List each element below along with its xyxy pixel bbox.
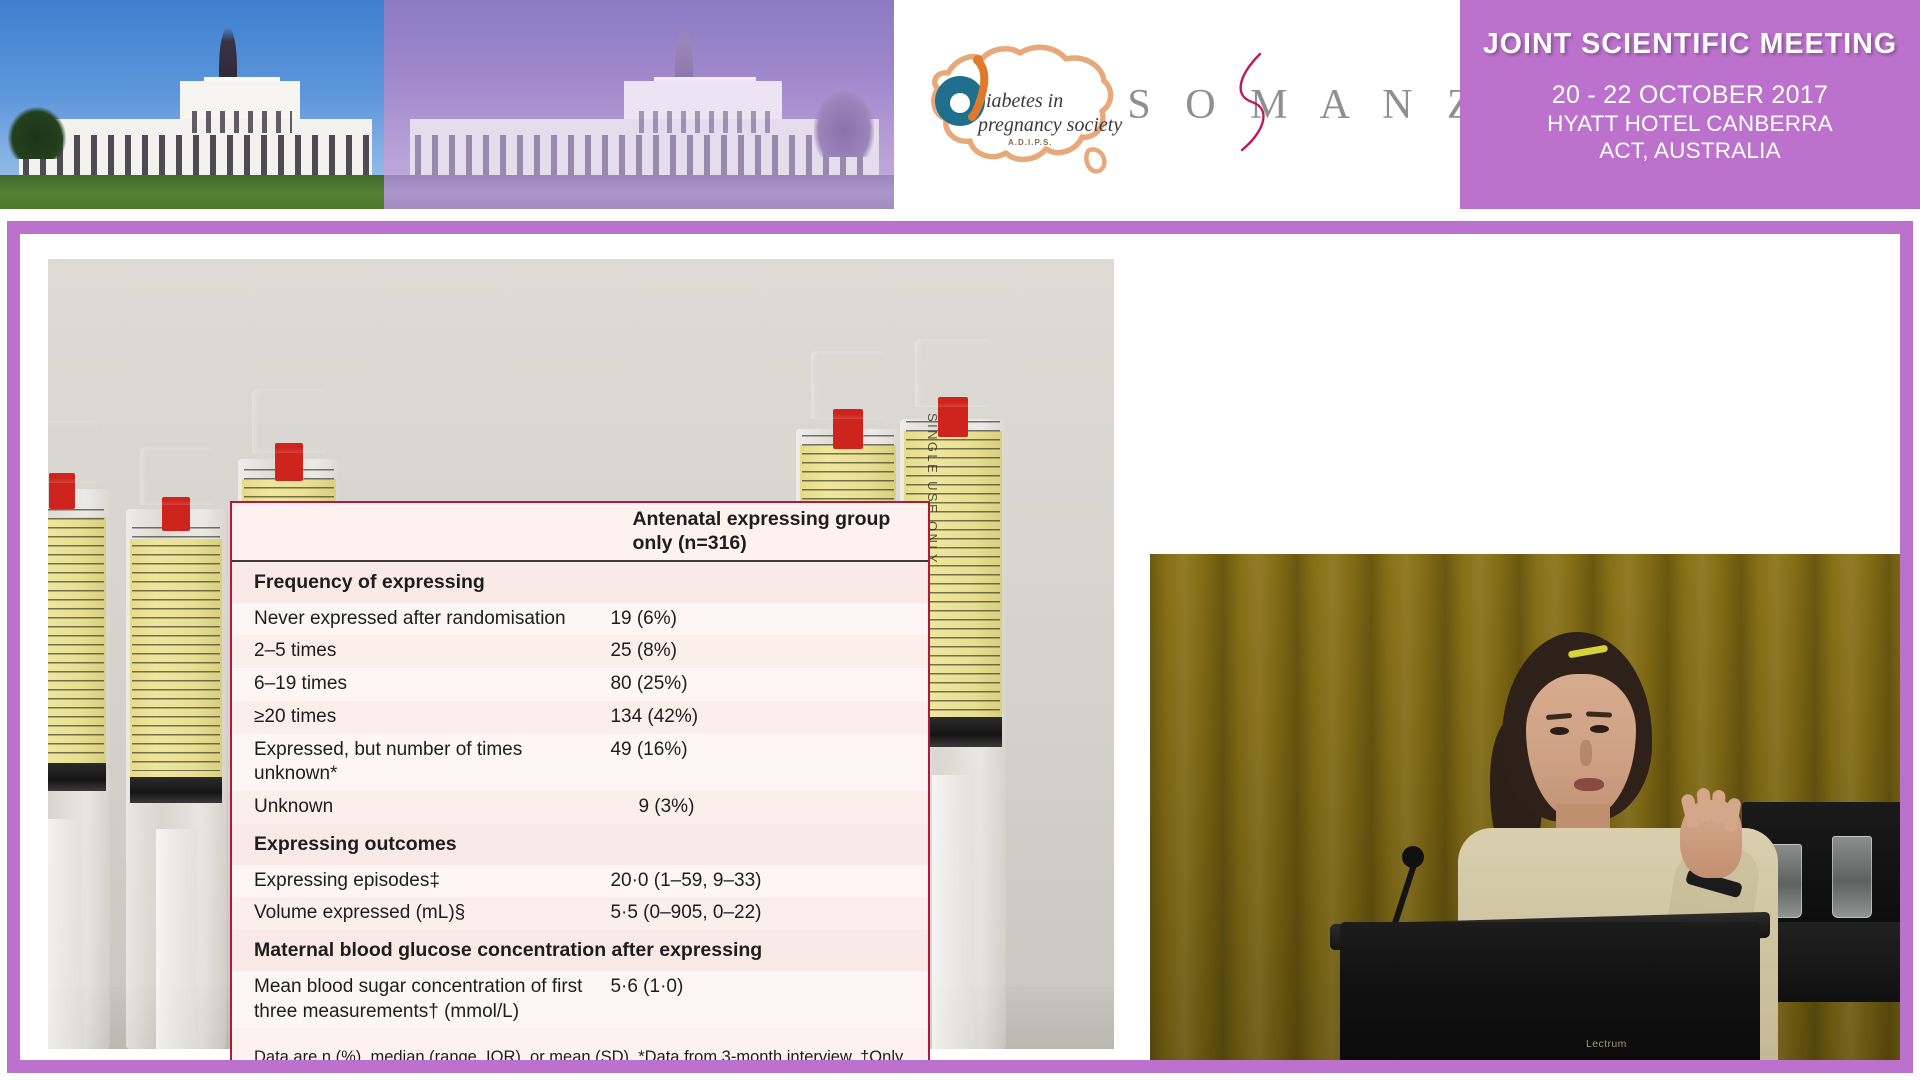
eye-left	[1550, 727, 1569, 735]
meeting-venue-line2: ACT, AUSTRALIA	[1599, 137, 1781, 164]
mouth	[1574, 778, 1604, 791]
microphone-head	[1402, 846, 1424, 868]
lawn	[0, 175, 384, 209]
speaker-presentation-video[interactable]: Lectrum	[1150, 554, 1900, 1060]
row-label: Never expressed after randomisation	[232, 603, 610, 636]
conference-header: iabetes in pregnancy society A.D.I.P.S. …	[0, 0, 1920, 212]
outcomes-table: Antenatal expressing group only (n=316) …	[232, 503, 928, 1044]
slide-purple-frame: TERUMO SINGLE USE ONLY	[7, 221, 1913, 1073]
row-label: ≥20 times	[232, 701, 610, 734]
building-windows	[23, 135, 369, 175]
table-footnote: Data are n (%), median (range, IQR), or …	[232, 1044, 928, 1060]
slide-content: TERUMO SINGLE USE ONLY	[20, 234, 1900, 1060]
tree-cluster	[8, 107, 66, 159]
somanz-logo: S O M A N Z	[1174, 60, 1439, 150]
row-label: Expressed, but number of times unknown*	[232, 734, 610, 791]
finger	[1696, 787, 1712, 822]
syringe-1	[48, 349, 110, 1049]
table-row: Expressing episodes‡ 20·0 (1–59, 9–33)	[232, 865, 928, 898]
column-header-cell: Antenatal expressing group only (n=316)	[610, 503, 928, 560]
row-value: 49 (16%)	[610, 734, 928, 791]
presentation-recording-page: iabetes in pregnancy society A.D.I.P.S. …	[0, 0, 1920, 1080]
meeting-venue-line1: HYATT HOTEL CANBERRA	[1547, 110, 1833, 137]
adips-acronym: A.D.I.P.S.	[1008, 138, 1053, 147]
adips-line1: iabetes in	[986, 90, 1063, 112]
adips-line2: pregnancy society	[976, 114, 1122, 136]
section-heading-label: Frequency of expressing	[232, 561, 928, 603]
building-windows-tinted	[415, 135, 874, 175]
lectern: Lectrum	[1340, 922, 1760, 1060]
banner-half-natural	[0, 0, 384, 209]
row-label: 2–5 times	[232, 635, 610, 668]
meeting-title: JOINT SCIENTIFIC MEETING	[1483, 28, 1897, 61]
adips-logo: iabetes in pregnancy society A.D.I.P.S.	[916, 27, 1131, 182]
row-value: 5·6 (1·0)	[610, 971, 928, 1028]
somanz-swoosh-icon	[1228, 52, 1278, 152]
table-row: Never expressed after randomisation 19 (…	[232, 603, 928, 636]
nose	[1580, 740, 1592, 766]
row-label: 6–19 times	[232, 668, 610, 701]
section-heading-label: Maternal blood glucose concentration aft…	[232, 930, 928, 971]
column-header-line2: only (n=316)	[632, 531, 928, 555]
table-section-heading: Frequency of expressing	[232, 561, 928, 603]
lawn-tinted	[384, 175, 894, 209]
tree-cluster-tinted	[814, 91, 874, 157]
sponsor-logo-strip: iabetes in pregnancy society A.D.I.P.S. …	[894, 0, 1460, 209]
table-row: 2–5 times 25 (8%)	[232, 635, 928, 668]
parliament-building-tinted	[384, 69, 894, 181]
table-row: Expressed, but number of times unknown* …	[232, 734, 928, 791]
water-glass	[1832, 836, 1872, 918]
row-label: Expressing episodes‡	[232, 865, 610, 898]
lancet-table-2: Antenatal expressing group only (n=316) …	[230, 501, 930, 1060]
row-label: Unknown	[232, 791, 610, 824]
parliament-building	[0, 69, 384, 181]
row-value: 80 (25%)	[610, 668, 928, 701]
banner-half-purple-tint	[384, 0, 894, 209]
table-section-heading: Expressing outcomes	[232, 824, 928, 865]
finger	[1711, 790, 1725, 824]
row-value: 19 (6%)	[610, 603, 928, 636]
section-heading-label: Expressing outcomes	[232, 824, 928, 865]
table-row: Mean blood sugar concentration of first …	[232, 971, 928, 1028]
eye-right	[1590, 725, 1609, 733]
building-upper-windows	[192, 111, 292, 133]
building-upper-windows-tinted	[639, 111, 772, 133]
table-row: Unknown 9 (3%)	[232, 791, 928, 824]
table-row: 6–19 times 80 (25%)	[232, 668, 928, 701]
row-label: Volume expressed (mL)§	[232, 897, 610, 930]
column-header-line1: Antenatal expressing group	[632, 507, 928, 531]
table-row: ≥20 times 134 (42%)	[232, 701, 928, 734]
table-row: Volume expressed (mL)§ 5·5 (0–905, 0–22)	[232, 897, 928, 930]
lectern-brand-label: Lectrum	[1586, 1038, 1627, 1050]
meeting-title-block: JOINT SCIENTIFIC MEETING 20 - 22 OCTOBER…	[1460, 0, 1920, 209]
row-label: Mean blood sugar concentration of first …	[232, 971, 610, 1028]
row-value: 134 (42%)	[610, 701, 928, 734]
row-value: 5·5 (0–905, 0–22)	[610, 897, 928, 930]
footnote-spacer	[232, 1028, 928, 1044]
row-value: 20·0 (1–59, 9–33)	[610, 865, 928, 898]
meeting-dates: 20 - 22 OCTOBER 2017	[1552, 81, 1829, 110]
adips-logo-graphic: iabetes in pregnancy society A.D.I.P.S.	[916, 27, 1131, 182]
old-parliament-house-banner-photo	[0, 0, 894, 209]
table-column-header-row: Antenatal expressing group only (n=316)	[232, 503, 928, 560]
row-value: 25 (8%)	[610, 635, 928, 668]
syringe-2	[126, 349, 226, 1049]
table-section-heading: Maternal blood glucose concentration aft…	[232, 930, 928, 971]
somanz-wordmark: S O M A N Z	[1127, 81, 1484, 129]
row-value: 9 (3%)	[610, 791, 928, 824]
